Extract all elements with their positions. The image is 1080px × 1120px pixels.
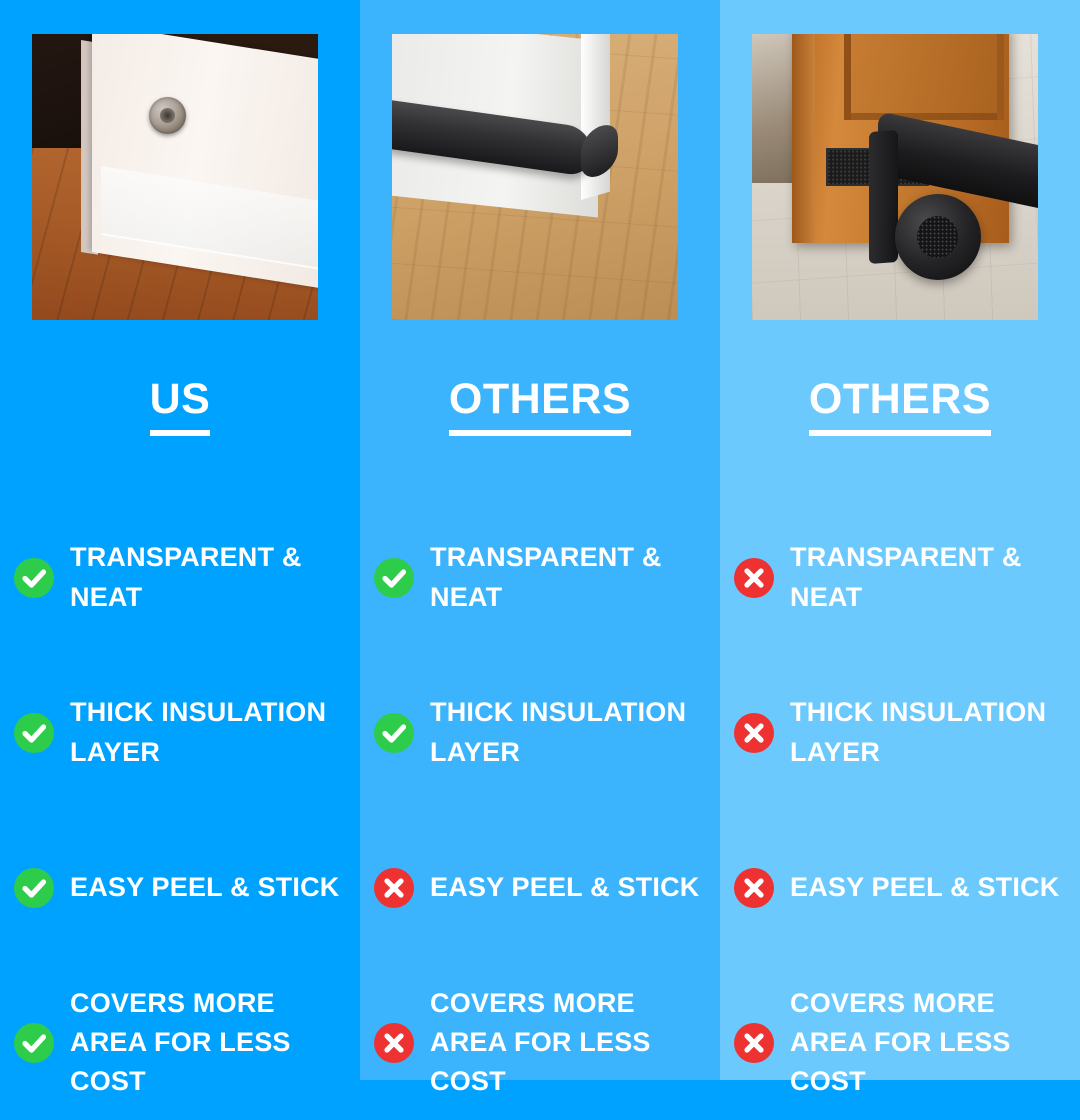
column-header-others-1: OTHERS — [360, 378, 720, 436]
cross-circle-icon — [734, 1023, 774, 1063]
comparison-column-us: US TRANSPARENT & NEAT THICK INSULATION L… — [0, 0, 360, 1080]
product-photo-us — [32, 34, 318, 320]
feature-label: THICK INSULATION LAYER — [430, 693, 714, 771]
check-circle-icon — [374, 713, 414, 753]
feature-row: COVERS MORE AREA FOR LESS COST — [360, 965, 720, 1120]
feature-row: TRANSPARENT & NEAT — [360, 500, 720, 655]
column-title: US — [150, 378, 211, 436]
column-title: OTHERS — [449, 378, 631, 436]
feature-label: COVERS MORE AREA FOR LESS COST — [790, 984, 1074, 1101]
cross-circle-icon — [374, 868, 414, 908]
comparison-column-others-1: OTHERS TRANSPARENT & NEAT THICK INSULATI… — [360, 0, 720, 1080]
check-circle-icon — [14, 558, 54, 598]
column-title: OTHERS — [809, 378, 991, 436]
feature-row: EASY PEEL & STICK — [360, 810, 720, 965]
feature-row: EASY PEEL & STICK — [720, 810, 1080, 965]
feature-row: COVERS MORE AREA FOR LESS COST — [720, 965, 1080, 1120]
check-circle-icon — [14, 868, 54, 908]
product-photo-others-1 — [392, 34, 678, 320]
feature-row: THICK INSULATION LAYER — [720, 655, 1080, 810]
feature-list-others-1: TRANSPARENT & NEAT THICK INSULATION LAYE… — [360, 500, 720, 1120]
cross-circle-icon — [734, 713, 774, 753]
feature-label: COVERS MORE AREA FOR LESS COST — [70, 984, 354, 1101]
cross-circle-icon — [734, 868, 774, 908]
feature-list-others-2: TRANSPARENT & NEAT THICK INSULATION LAYE… — [720, 500, 1080, 1120]
column-header-others-2: OTHERS — [720, 378, 1080, 436]
product-photo-others-2 — [752, 34, 1038, 320]
feature-row: THICK INSULATION LAYER — [360, 655, 720, 810]
feature-label: EASY PEEL & STICK — [70, 868, 339, 907]
cross-circle-icon — [734, 558, 774, 598]
feature-label: EASY PEEL & STICK — [430, 868, 699, 907]
feature-label: TRANSPARENT & NEAT — [790, 538, 1074, 616]
cross-circle-icon — [374, 1023, 414, 1063]
comparison-column-others-2: OTHERS TRANSPARENT & NEAT THICK INSULATI… — [720, 0, 1080, 1080]
feature-label: TRANSPARENT & NEAT — [430, 538, 714, 616]
feature-list-us: TRANSPARENT & NEAT THICK INSULATION LAYE… — [0, 500, 360, 1120]
feature-label: COVERS MORE AREA FOR LESS COST — [430, 984, 714, 1101]
feature-row: EASY PEEL & STICK — [0, 810, 360, 965]
check-circle-icon — [374, 558, 414, 598]
feature-row: THICK INSULATION LAYER — [0, 655, 360, 810]
column-header-us: US — [0, 378, 360, 436]
feature-label: THICK INSULATION LAYER — [790, 693, 1074, 771]
feature-label: EASY PEEL & STICK — [790, 868, 1059, 907]
feature-row: TRANSPARENT & NEAT — [720, 500, 1080, 655]
check-circle-icon — [14, 1023, 54, 1063]
feature-label: THICK INSULATION LAYER — [70, 693, 354, 771]
feature-row: COVERS MORE AREA FOR LESS COST — [0, 965, 360, 1120]
feature-label: TRANSPARENT & NEAT — [70, 538, 354, 616]
check-circle-icon — [14, 713, 54, 753]
feature-row: TRANSPARENT & NEAT — [0, 500, 360, 655]
